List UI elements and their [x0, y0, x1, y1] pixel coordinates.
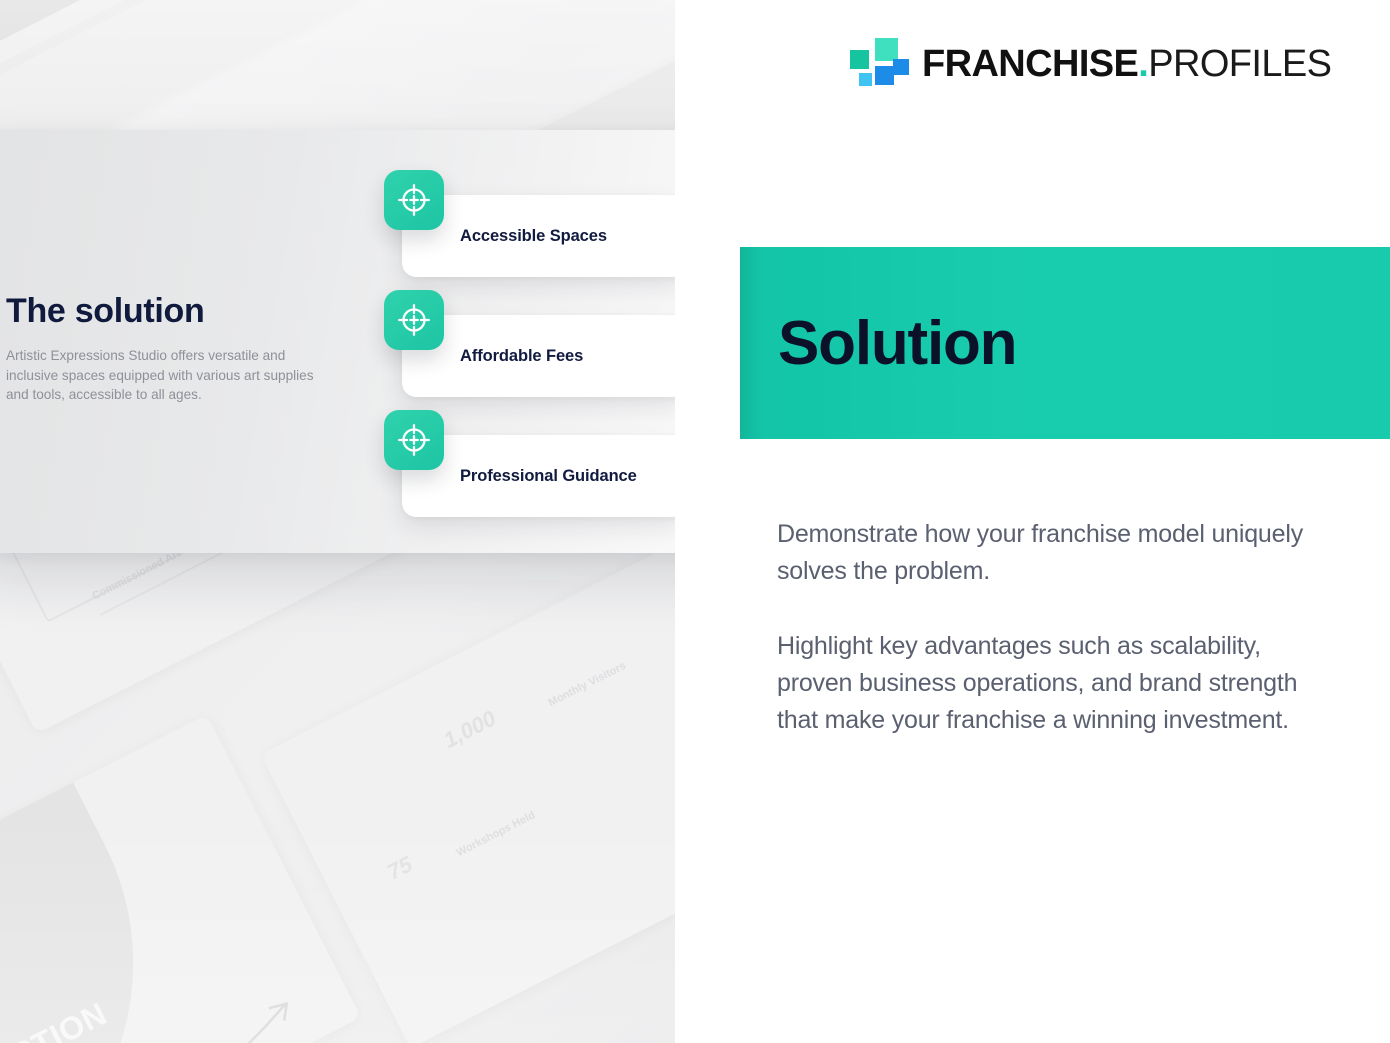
logo-mark-icon: [850, 35, 908, 93]
logo-word-dot: .: [1138, 43, 1148, 85]
collage-blob: [0, 756, 223, 1043]
logo-word-bold: FRANCHISE: [922, 43, 1138, 85]
right-content-pane: FRANCHISE.PROFILES Solution Demonstrate …: [675, 0, 1390, 1043]
collage-arrow-icon: [182, 996, 307, 1043]
collage-stat-value: 1,000: [439, 706, 500, 754]
banner-title: Solution: [740, 308, 1016, 379]
slide-preview-description: Artistic Expressions Studio offers versa…: [6, 346, 326, 405]
slide-preview-title: The solution: [6, 292, 205, 331]
feature-card-accessible-spaces[interactable]: Accessible Spaces: [402, 195, 686, 277]
copy-paragraph-1: Demonstrate how your franchise model uni…: [777, 516, 1317, 590]
feature-card-professional-guidance[interactable]: Professional Guidance: [402, 435, 686, 517]
feature-card-affordable-fees[interactable]: Affordable Fees: [402, 315, 686, 397]
collage-stat-value: 75: [383, 851, 417, 885]
collage-stat-label: Monthly Visitors: [546, 660, 628, 709]
crosshair-target-icon: [384, 410, 444, 470]
slide-preview-panel: The solution Artistic Expressions Studio…: [0, 130, 740, 553]
logo-word-light: PROFILES: [1148, 43, 1331, 85]
copy-paragraph-2: Highlight key advantages such as scalabi…: [777, 628, 1317, 739]
feature-label: Professional Guidance: [402, 467, 637, 486]
description-copy: Demonstrate how your franchise model uni…: [777, 516, 1317, 739]
brand-logo: FRANCHISE.PROFILES: [850, 35, 1331, 93]
logo-wordmark: FRANCHISE.PROFILES: [922, 45, 1331, 83]
solution-banner: Solution: [740, 247, 1390, 439]
crosshair-target-icon: [384, 170, 444, 230]
collage-stat-label: Workshops Held: [455, 809, 538, 859]
crosshair-target-icon: [384, 290, 444, 350]
slide-template-preview-page: MARKET spaces in urban and suburban area…: [0, 0, 1390, 1043]
